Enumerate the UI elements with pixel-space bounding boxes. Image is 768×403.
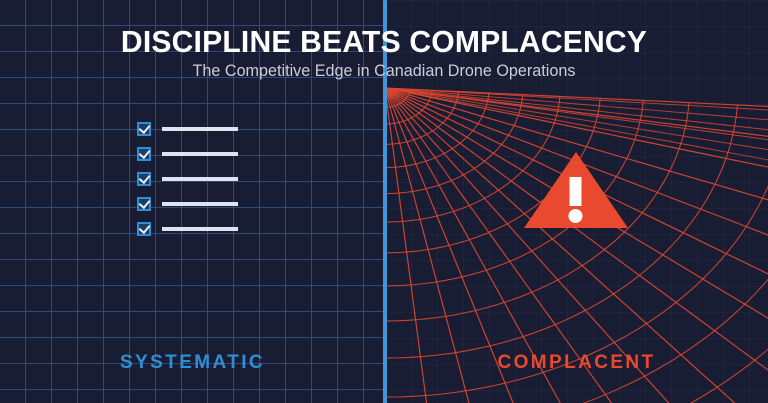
list-item-bar xyxy=(162,152,238,156)
list-item xyxy=(137,172,238,186)
list-item-bar xyxy=(162,127,238,131)
checked-checkbox-icon[interactable] xyxy=(137,197,151,211)
checked-checkbox-icon[interactable] xyxy=(137,147,151,161)
checked-checkbox-icon[interactable] xyxy=(137,172,151,186)
list-item-bar xyxy=(162,227,238,231)
center-divider xyxy=(383,0,387,403)
warning-triangle-icon xyxy=(523,150,629,230)
list-item xyxy=(137,197,238,211)
page-title: DISCIPLINE BEATS COMPLACENCY xyxy=(12,24,757,60)
list-item-bar xyxy=(162,177,238,181)
list-item xyxy=(137,147,238,161)
checked-checkbox-icon[interactable] xyxy=(137,222,151,236)
checked-checkbox-icon[interactable] xyxy=(137,122,151,136)
poster-canvas: DISCIPLINE BEATS COMPLACENCY The Competi… xyxy=(0,0,768,403)
list-item xyxy=(137,222,238,236)
list-item xyxy=(137,122,238,136)
systematic-label: SYSTEMATIC xyxy=(0,352,385,374)
systematic-checklist xyxy=(137,122,238,236)
list-item-bar xyxy=(162,202,238,206)
complacent-label: COMPLACENT xyxy=(385,352,768,374)
page-subtitle: The Competitive Edge in Canadian Drone O… xyxy=(8,62,761,81)
